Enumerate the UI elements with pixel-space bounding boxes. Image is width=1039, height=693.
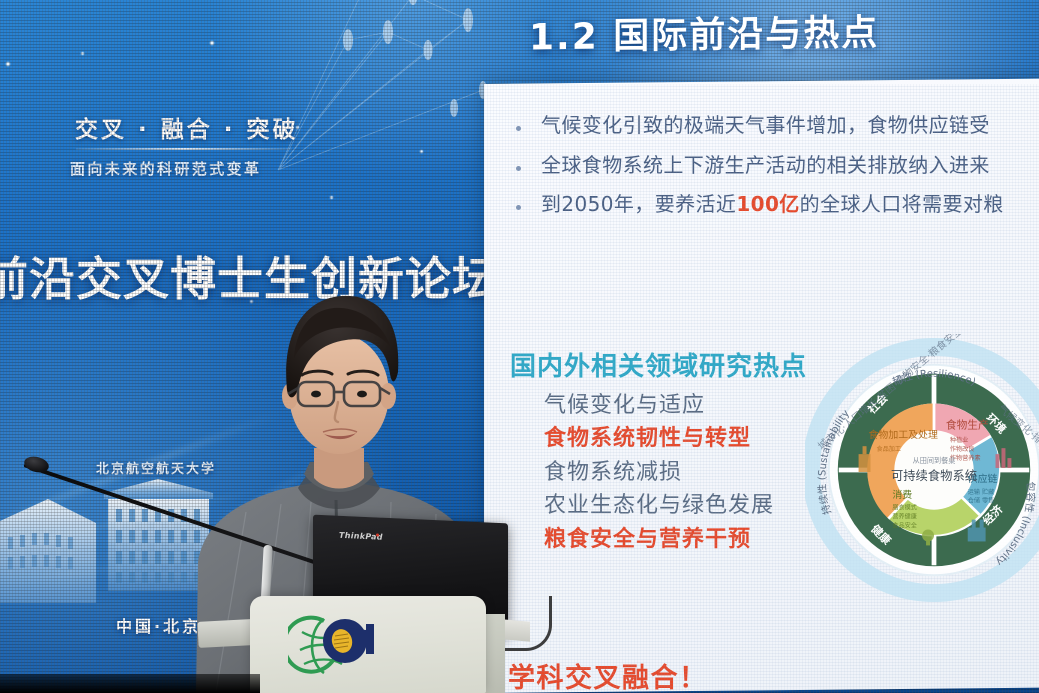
sustainable-food-system-diagram: 韧性 (Resilience) 可持续性 (Sustainability) 包容… — [805, 334, 1039, 606]
svg-text:膳食模式: 膳食模式 — [892, 504, 917, 512]
bullet-text: 到2050年，要养活近100亿的全球人口将需要对粮 — [541, 192, 1004, 218]
bullet-text: 气候变化引致的极端天气事件增加，食物供应链受 — [541, 113, 990, 139]
svg-text:食品加工: 食品加工 — [876, 445, 901, 453]
bullet-text: 全球食物系统上下游生产活动的相关排放纳入进来 — [541, 153, 990, 179]
svg-text:仓储 零售: 仓储 零售 — [968, 497, 995, 505]
bullet-item: 到2050年，要养活近100亿的全球人口将需要对粮 — [504, 192, 1039, 218]
bullet-dot-icon — [516, 126, 521, 131]
svg-text:作物改良: 作物改良 — [950, 445, 975, 453]
research-topic-list: 气候变化与适应 食物系统韧性与转型 食物系统减损 农业生态化与绿色发展 粮食安全… — [544, 389, 774, 556]
presentation-photo-stage: 交叉 · 融合 · 突破 面向未来的科研范式变革 前沿交叉博士生创新论坛 北京航… — [0, 0, 1039, 693]
diagram-center-subtitle: 从田间到餐桌 — [913, 456, 956, 465]
svg-text:食品安全: 食品安全 — [892, 522, 917, 530]
slide-title-wrap: 1.2 国际前沿与热点 — [529, 6, 879, 58]
power-cable — [505, 596, 552, 651]
svg-text:营养健康: 营养健康 — [892, 513, 917, 521]
bullet-item: 气候变化引致的极端天气事件增加，食物供应链受 — [504, 113, 1039, 139]
diagram-segment-label-processing: 食物加工及处理 — [869, 428, 938, 441]
diagram-center-title: 可持续食物系统 — [891, 468, 977, 483]
topic-item: 农业生态化与绿色发展 — [544, 489, 774, 522]
bullet-item: 全球食物系统上下游生产活动的相关排放纳入进来 — [504, 153, 1039, 179]
slide-section-heading: 国内外相关领域研究热点 — [510, 346, 807, 383]
bullet-dot-icon — [516, 205, 521, 210]
topic-item: 气候变化与适应 — [544, 389, 774, 422]
svg-text:种植业: 种植业 — [950, 436, 968, 444]
svg-text:运输 贮藏: 运输 贮藏 — [968, 488, 995, 496]
slide-bullet-list: 气候变化引致的极端天气事件增加，食物供应链受 全球食物系统上下游生产活动的相关排… — [504, 113, 1039, 232]
topic-item-emphasis: 食物系统韧性与转型 — [544, 422, 774, 455]
bullet-text-post: 的全球人口将需要对粮 — [800, 192, 1004, 216]
topic-item: 食物系统减损 — [544, 456, 774, 489]
organization-logo — [288, 610, 374, 682]
bullet-dot-icon — [516, 166, 521, 171]
topic-item-emphasis: 粮食安全与营养干预 — [544, 523, 774, 556]
podium-front-panel — [250, 596, 486, 693]
slide-title: 1.2 国际前沿与热点 — [529, 4, 879, 61]
diagram-segment-label-consumption: 消费 — [892, 488, 912, 501]
bullet-highlight-value: 100亿 — [736, 192, 799, 216]
slide-conclusion: 学科交叉融合！ — [508, 656, 708, 693]
bullet-text-pre: 到2050年，要养活近 — [541, 192, 736, 216]
foreground-shadow — [0, 674, 260, 693]
diagram-segment-label-production: 食物生产 — [946, 418, 989, 431]
